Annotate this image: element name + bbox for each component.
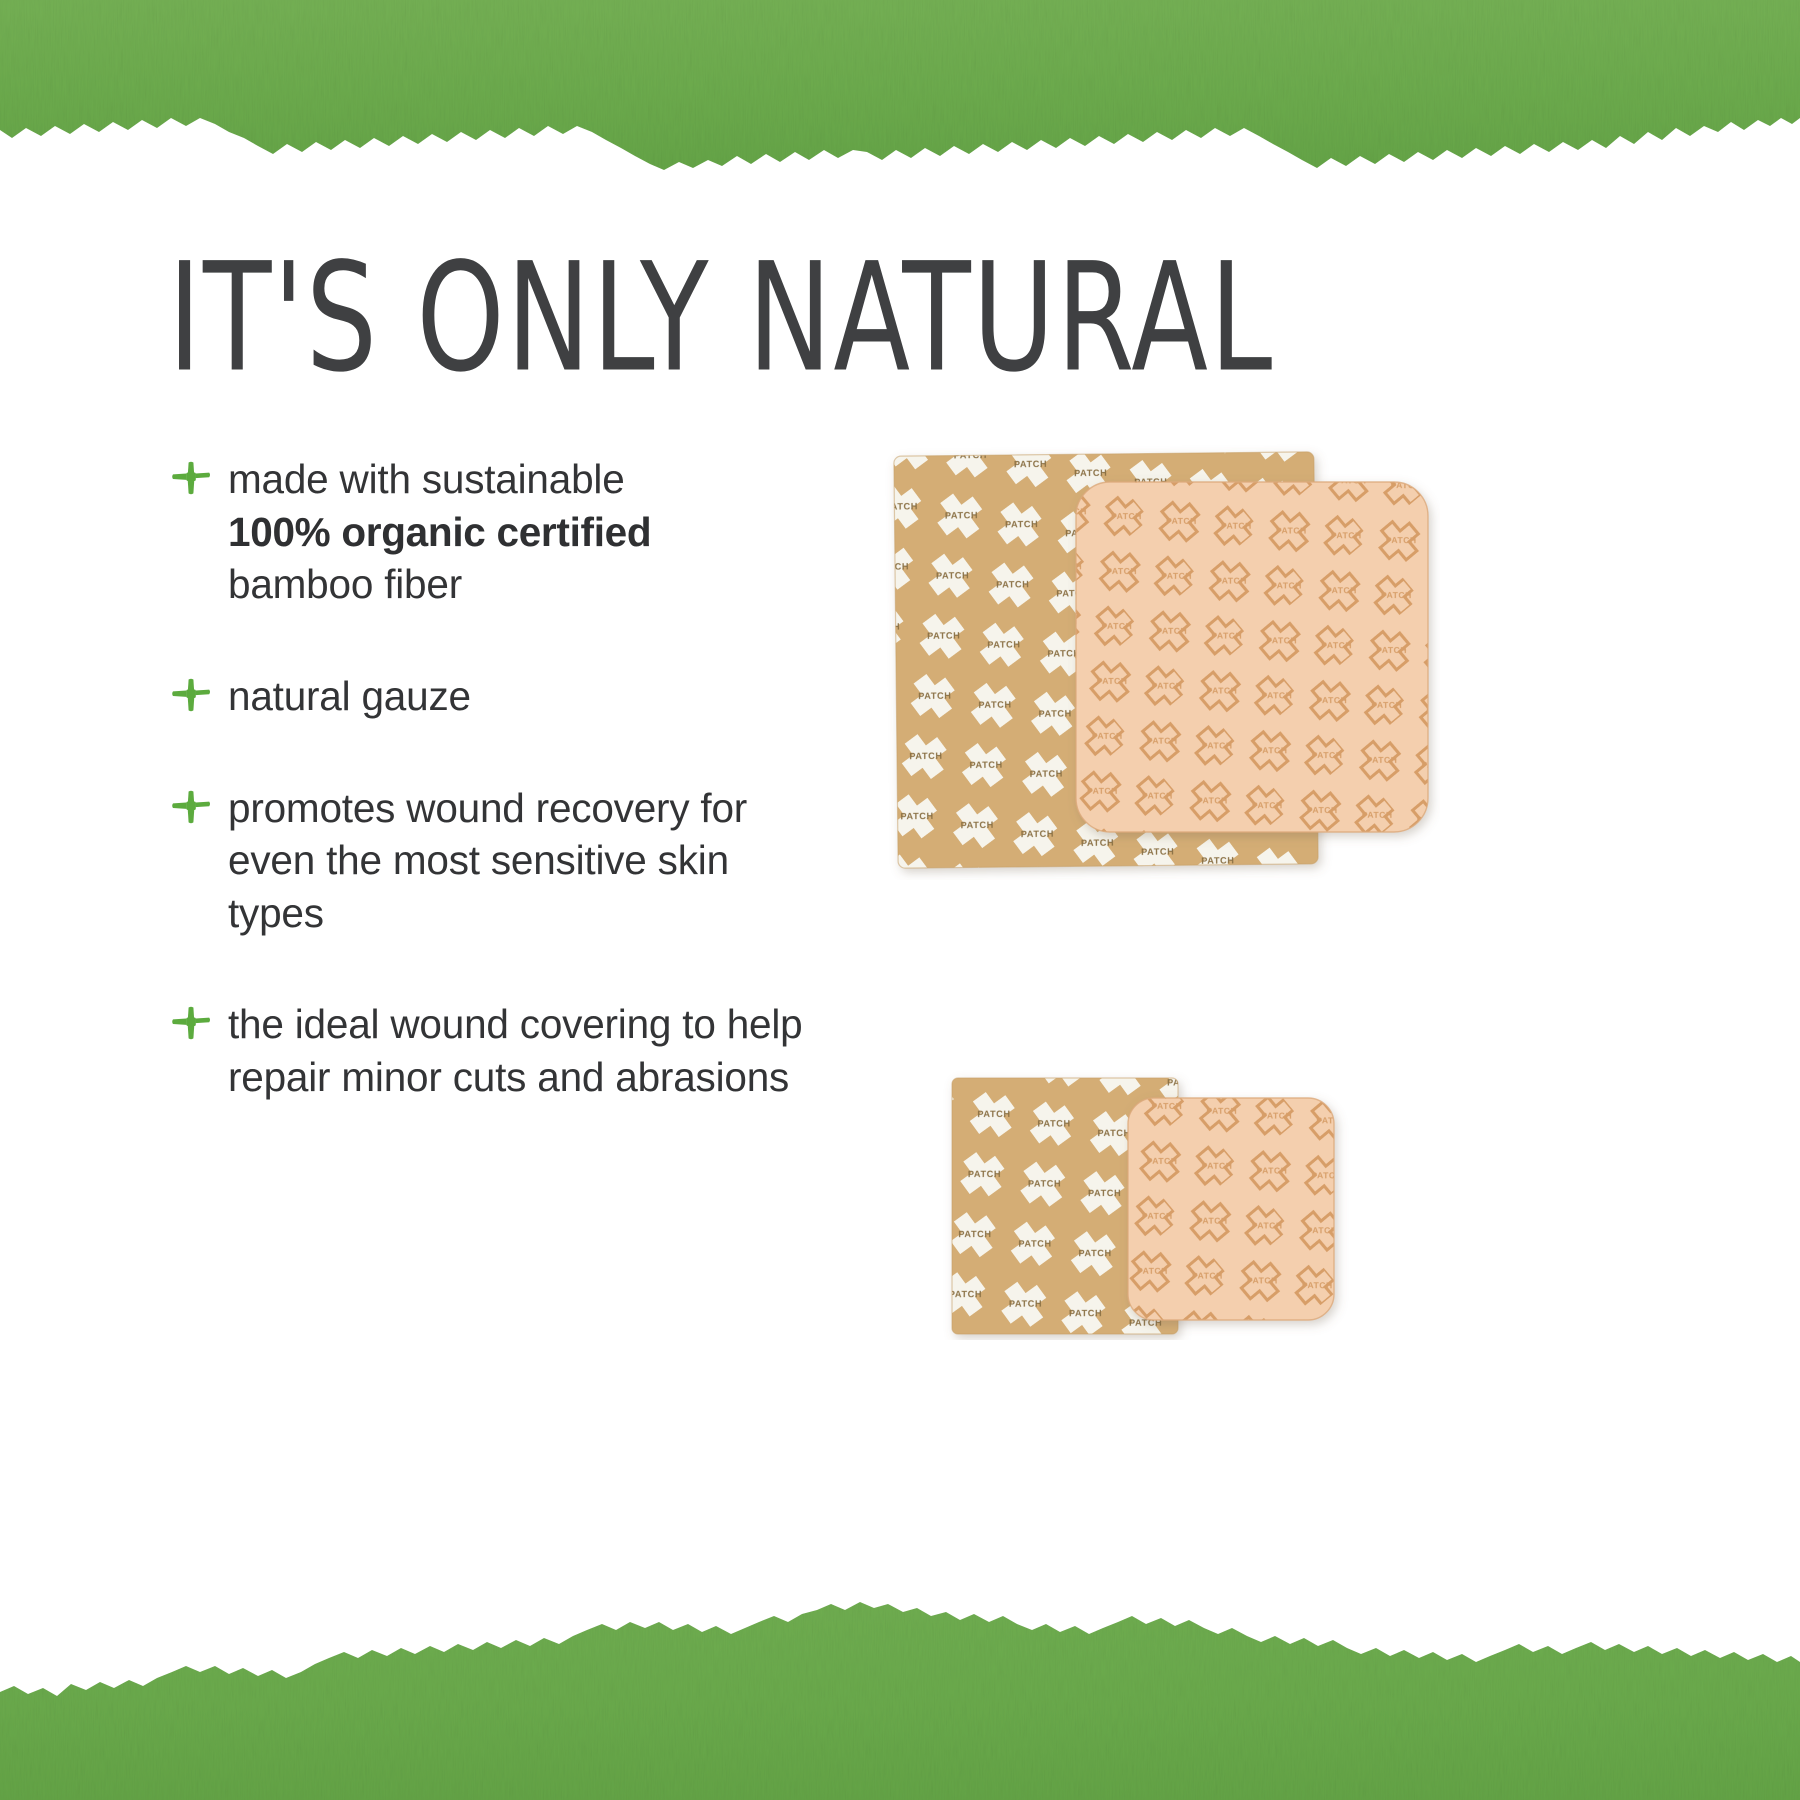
plus-icon (168, 997, 214, 1049)
torn-paper-band-top (0, 0, 1800, 190)
bullet-lead-text: made with sustainable (228, 456, 625, 502)
rectangular-bandage-set (930, 920, 1390, 1340)
torn-paper-band-bottom (0, 1600, 1800, 1800)
list-item: natural gauze (168, 669, 858, 723)
bullet-tail-text: bamboo fiber (228, 561, 462, 607)
list-item: made with sustainable 100% organic certi… (168, 452, 858, 611)
list-item-text: the ideal wound covering to help repair … (228, 997, 828, 1103)
list-item-text: natural gauze (228, 669, 858, 723)
square-bandage-set (880, 440, 1440, 880)
bamboo-bandage (1128, 1098, 1334, 1320)
bamboo-bandage (1076, 482, 1428, 832)
plus-icon (168, 669, 214, 721)
list-item-text: made with sustainable 100% organic certi… (228, 452, 858, 611)
plus-icon (168, 781, 214, 833)
product-infographic: IT'S ONLY NATURAL made with sustainable (0, 0, 1800, 1800)
page-title: IT'S ONLY NATURAL (168, 243, 1274, 393)
list-item-text: promotes wound recovery for even the mos… (228, 781, 758, 940)
plus-icon (168, 452, 214, 504)
bullet-emphasis-text: 100% organic certified (228, 509, 651, 555)
list-item: promotes wound recovery for even the mos… (168, 781, 858, 940)
feature-list: made with sustainable 100% organic certi… (168, 452, 858, 1104)
list-item: the ideal wound covering to help repair … (168, 997, 858, 1103)
